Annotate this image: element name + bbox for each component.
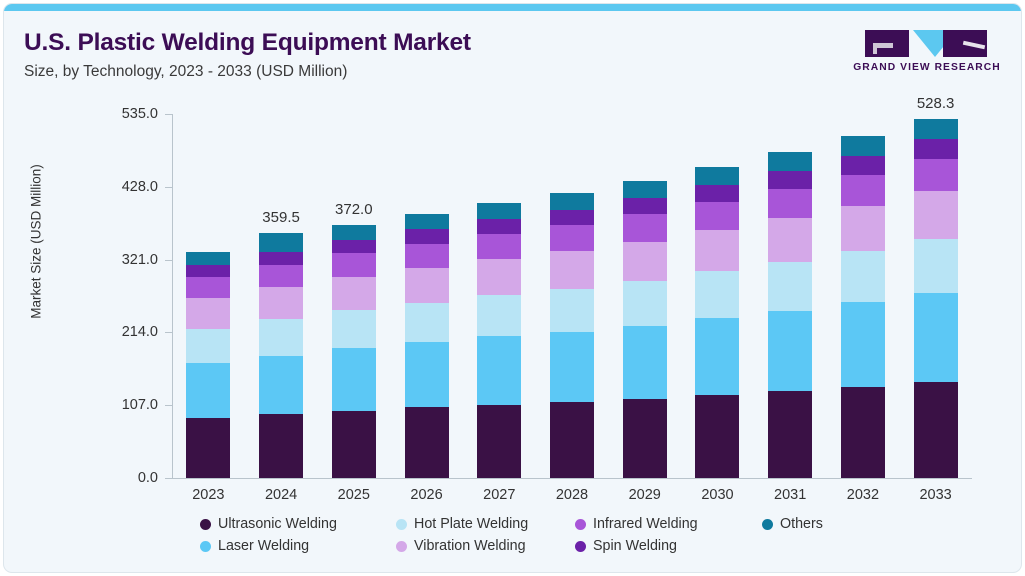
bar-2032[interactable] [841, 136, 885, 478]
bar-segment[interactable] [332, 348, 376, 411]
y-axis-tick-label: 107.0 [78, 397, 158, 413]
bar-segment[interactable] [768, 189, 812, 219]
bar-segment[interactable] [841, 387, 885, 478]
bar-segment[interactable] [259, 233, 303, 251]
bar-segment[interactable] [477, 405, 521, 478]
legend-item-infrared-welding[interactable]: Infrared Welding [575, 516, 698, 532]
bar-segment[interactable] [550, 193, 594, 210]
bar-segment[interactable] [405, 268, 449, 303]
bar-segment[interactable] [623, 198, 667, 214]
bar-segment[interactable] [695, 395, 739, 478]
bar-segment[interactable] [186, 329, 230, 363]
legend-item-vibration-welding[interactable]: Vibration Welding [396, 538, 526, 554]
legend-label: Others [780, 516, 823, 532]
bar-segment[interactable] [841, 302, 885, 386]
legend-item-laser-welding[interactable]: Laser Welding [200, 538, 309, 554]
x-axis-tick-label: 2032 [823, 487, 903, 503]
bar-2025[interactable] [332, 225, 376, 478]
bar-segment[interactable] [405, 407, 449, 478]
bar-segment[interactable] [550, 210, 594, 226]
x-axis-line [172, 478, 972, 479]
y-axis-tick-label: 428.0 [78, 179, 158, 195]
bar-segment[interactable] [914, 191, 958, 239]
bar-segment[interactable] [841, 206, 885, 251]
legend-label: Infrared Welding [593, 516, 698, 532]
bar-segment[interactable] [259, 287, 303, 319]
bar-segment[interactable] [186, 363, 230, 418]
bar-segment[interactable] [477, 295, 521, 336]
bar-segment[interactable] [841, 156, 885, 175]
bar-segment[interactable] [405, 244, 449, 268]
bar-segment[interactable] [259, 356, 303, 415]
bar-segment[interactable] [332, 240, 376, 254]
x-axis-tick-label: 2029 [605, 487, 685, 503]
bar-2026[interactable] [405, 214, 449, 478]
bar-segment[interactable] [550, 225, 594, 251]
legend-label: Ultrasonic Welding [218, 516, 337, 532]
bar-segment[interactable] [623, 281, 667, 326]
bar-segment[interactable] [332, 411, 376, 478]
bar-segment[interactable] [695, 185, 739, 202]
bar-segment[interactable] [477, 259, 521, 295]
bar-segment[interactable] [186, 418, 230, 478]
bar-segment[interactable] [259, 414, 303, 478]
x-axis-tick-label: 2025 [314, 487, 394, 503]
y-axis-tick-mark [165, 187, 172, 188]
x-axis-tick-label: 2028 [532, 487, 612, 503]
bar-segment[interactable] [768, 218, 812, 261]
y-axis-tick-label: 214.0 [78, 324, 158, 340]
legend-item-spin-welding[interactable]: Spin Welding [575, 538, 677, 554]
bar-segment[interactable] [695, 318, 739, 395]
y-axis-tick-mark [165, 332, 172, 333]
bar-segment[interactable] [186, 252, 230, 265]
bar-segment[interactable] [914, 293, 958, 382]
bar-segment[interactable] [623, 399, 667, 478]
bar-segment[interactable] [186, 277, 230, 298]
bar-2030[interactable] [695, 167, 739, 478]
bar-2028[interactable] [550, 193, 594, 478]
bar-segment[interactable] [405, 229, 449, 243]
legend-label: Vibration Welding [414, 538, 526, 554]
chart-card: U.S. Plastic Welding Equipment Market Si… [4, 4, 1021, 572]
y-axis-label: Market Size (USD Million) [29, 122, 44, 362]
bar-segment[interactable] [405, 303, 449, 342]
x-axis-tick-label: 2031 [750, 487, 830, 503]
bar-value-label: 372.0 [304, 201, 404, 218]
bar-segment[interactable] [623, 181, 667, 198]
legend-swatch-icon [396, 519, 407, 530]
legend-label: Hot Plate Welding [414, 516, 528, 532]
bar-segment[interactable] [550, 251, 594, 289]
y-axis-tick-mark [165, 478, 172, 479]
bar-segment[interactable] [914, 159, 958, 192]
bar-2023[interactable] [186, 252, 230, 478]
x-axis-tick-label: 2023 [168, 487, 248, 503]
legend-swatch-icon [396, 541, 407, 552]
bar-segment[interactable] [477, 219, 521, 234]
bar-segment[interactable] [623, 214, 667, 241]
bar-segment[interactable] [695, 230, 739, 271]
bar-segment[interactable] [914, 239, 958, 293]
legend-swatch-icon [200, 541, 211, 552]
bar-segment[interactable] [332, 277, 376, 311]
legend-item-hot-plate-welding[interactable]: Hot Plate Welding [396, 516, 528, 532]
bar-segment[interactable] [768, 262, 812, 311]
legend-swatch-icon [200, 519, 211, 530]
bar-segment[interactable] [332, 253, 376, 276]
chart-plot-area: Market Size (USD Million) 0.0107.0214.03… [4, 4, 1021, 572]
bar-segment[interactable] [477, 203, 521, 219]
bar-segment[interactable] [405, 214, 449, 229]
x-axis-tick-label: 2030 [677, 487, 757, 503]
bar-segment[interactable] [695, 271, 739, 318]
bar-2029[interactable] [623, 181, 667, 478]
x-axis-tick-label: 2024 [241, 487, 321, 503]
bar-segment[interactable] [259, 265, 303, 287]
legend-label: Spin Welding [593, 538, 677, 554]
bar-segment[interactable] [623, 326, 667, 399]
bar-segment[interactable] [768, 152, 812, 171]
bar-segment[interactable] [841, 251, 885, 302]
bar-segment[interactable] [186, 265, 230, 278]
bar-segment[interactable] [623, 242, 667, 281]
y-axis-tick-label: 0.0 [78, 470, 158, 486]
y-axis-line [172, 114, 173, 478]
bar-segment[interactable] [332, 310, 376, 348]
bar-segment[interactable] [332, 225, 376, 240]
bar-segment[interactable] [405, 342, 449, 407]
bar-value-label: 528.3 [886, 95, 986, 112]
bar-2033[interactable] [914, 119, 958, 478]
x-axis-tick-label: 2033 [896, 487, 976, 503]
bar-segment[interactable] [914, 139, 958, 159]
bar-segment[interactable] [477, 336, 521, 405]
legend-item-others[interactable]: Others [762, 516, 823, 532]
bar-segment[interactable] [768, 171, 812, 189]
y-axis-tick-mark [165, 114, 172, 115]
legend-swatch-icon [575, 519, 586, 530]
bar-2031[interactable] [768, 152, 812, 478]
bar-2024[interactable] [259, 233, 303, 478]
y-axis-tick-label: 321.0 [78, 252, 158, 268]
bar-segment[interactable] [768, 311, 812, 391]
bar-segment[interactable] [550, 402, 594, 478]
x-axis-tick-label: 2026 [387, 487, 467, 503]
bar-segment[interactable] [550, 332, 594, 403]
bar-2027[interactable] [477, 203, 521, 478]
legend-swatch-icon [575, 541, 586, 552]
y-axis-tick-mark [165, 260, 172, 261]
x-axis-tick-label: 2027 [459, 487, 539, 503]
y-axis-tick-mark [165, 405, 172, 406]
bar-segment[interactable] [550, 289, 594, 332]
bar-segment[interactable] [841, 175, 885, 206]
bar-segment[interactable] [841, 136, 885, 156]
legend-item-ultrasonic-welding[interactable]: Ultrasonic Welding [200, 516, 337, 532]
bar-segment[interactable] [259, 252, 303, 265]
bar-segment[interactable] [695, 202, 739, 230]
bar-segment[interactable] [477, 234, 521, 259]
bar-segment[interactable] [259, 319, 303, 355]
bar-segment[interactable] [768, 391, 812, 478]
bar-segment[interactable] [695, 167, 739, 185]
bar-segment[interactable] [914, 382, 958, 478]
bar-segment[interactable] [914, 119, 958, 139]
y-axis-tick-label: 535.0 [78, 106, 158, 122]
legend-swatch-icon [762, 519, 773, 530]
legend-label: Laser Welding [218, 538, 309, 554]
bar-segment[interactable] [186, 298, 230, 329]
